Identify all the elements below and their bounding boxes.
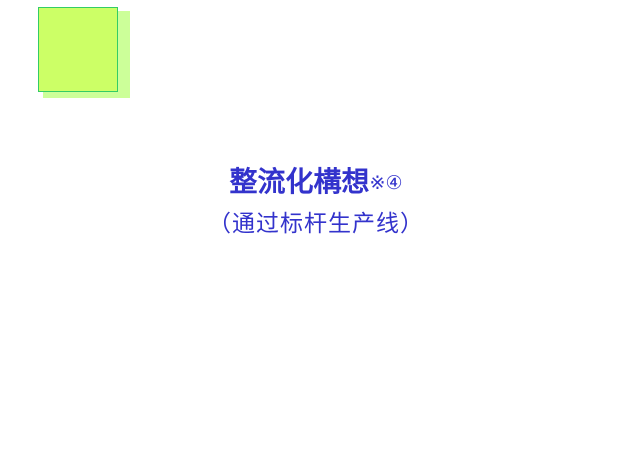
logo-block (38, 7, 125, 94)
slide-canvas: 整流化構想※④ （通过标杆生产线） (0, 0, 632, 475)
title-area: 整流化構想※④ （通过标杆生产线） (0, 166, 632, 239)
page-title: 整流化構想※④ (0, 166, 632, 198)
page-title-text: 整流化構想 (230, 165, 370, 198)
green-square-logo (38, 7, 118, 92)
title-marker: ※④ (370, 172, 403, 194)
page-subtitle: （通过标杆生产线） (0, 211, 632, 239)
